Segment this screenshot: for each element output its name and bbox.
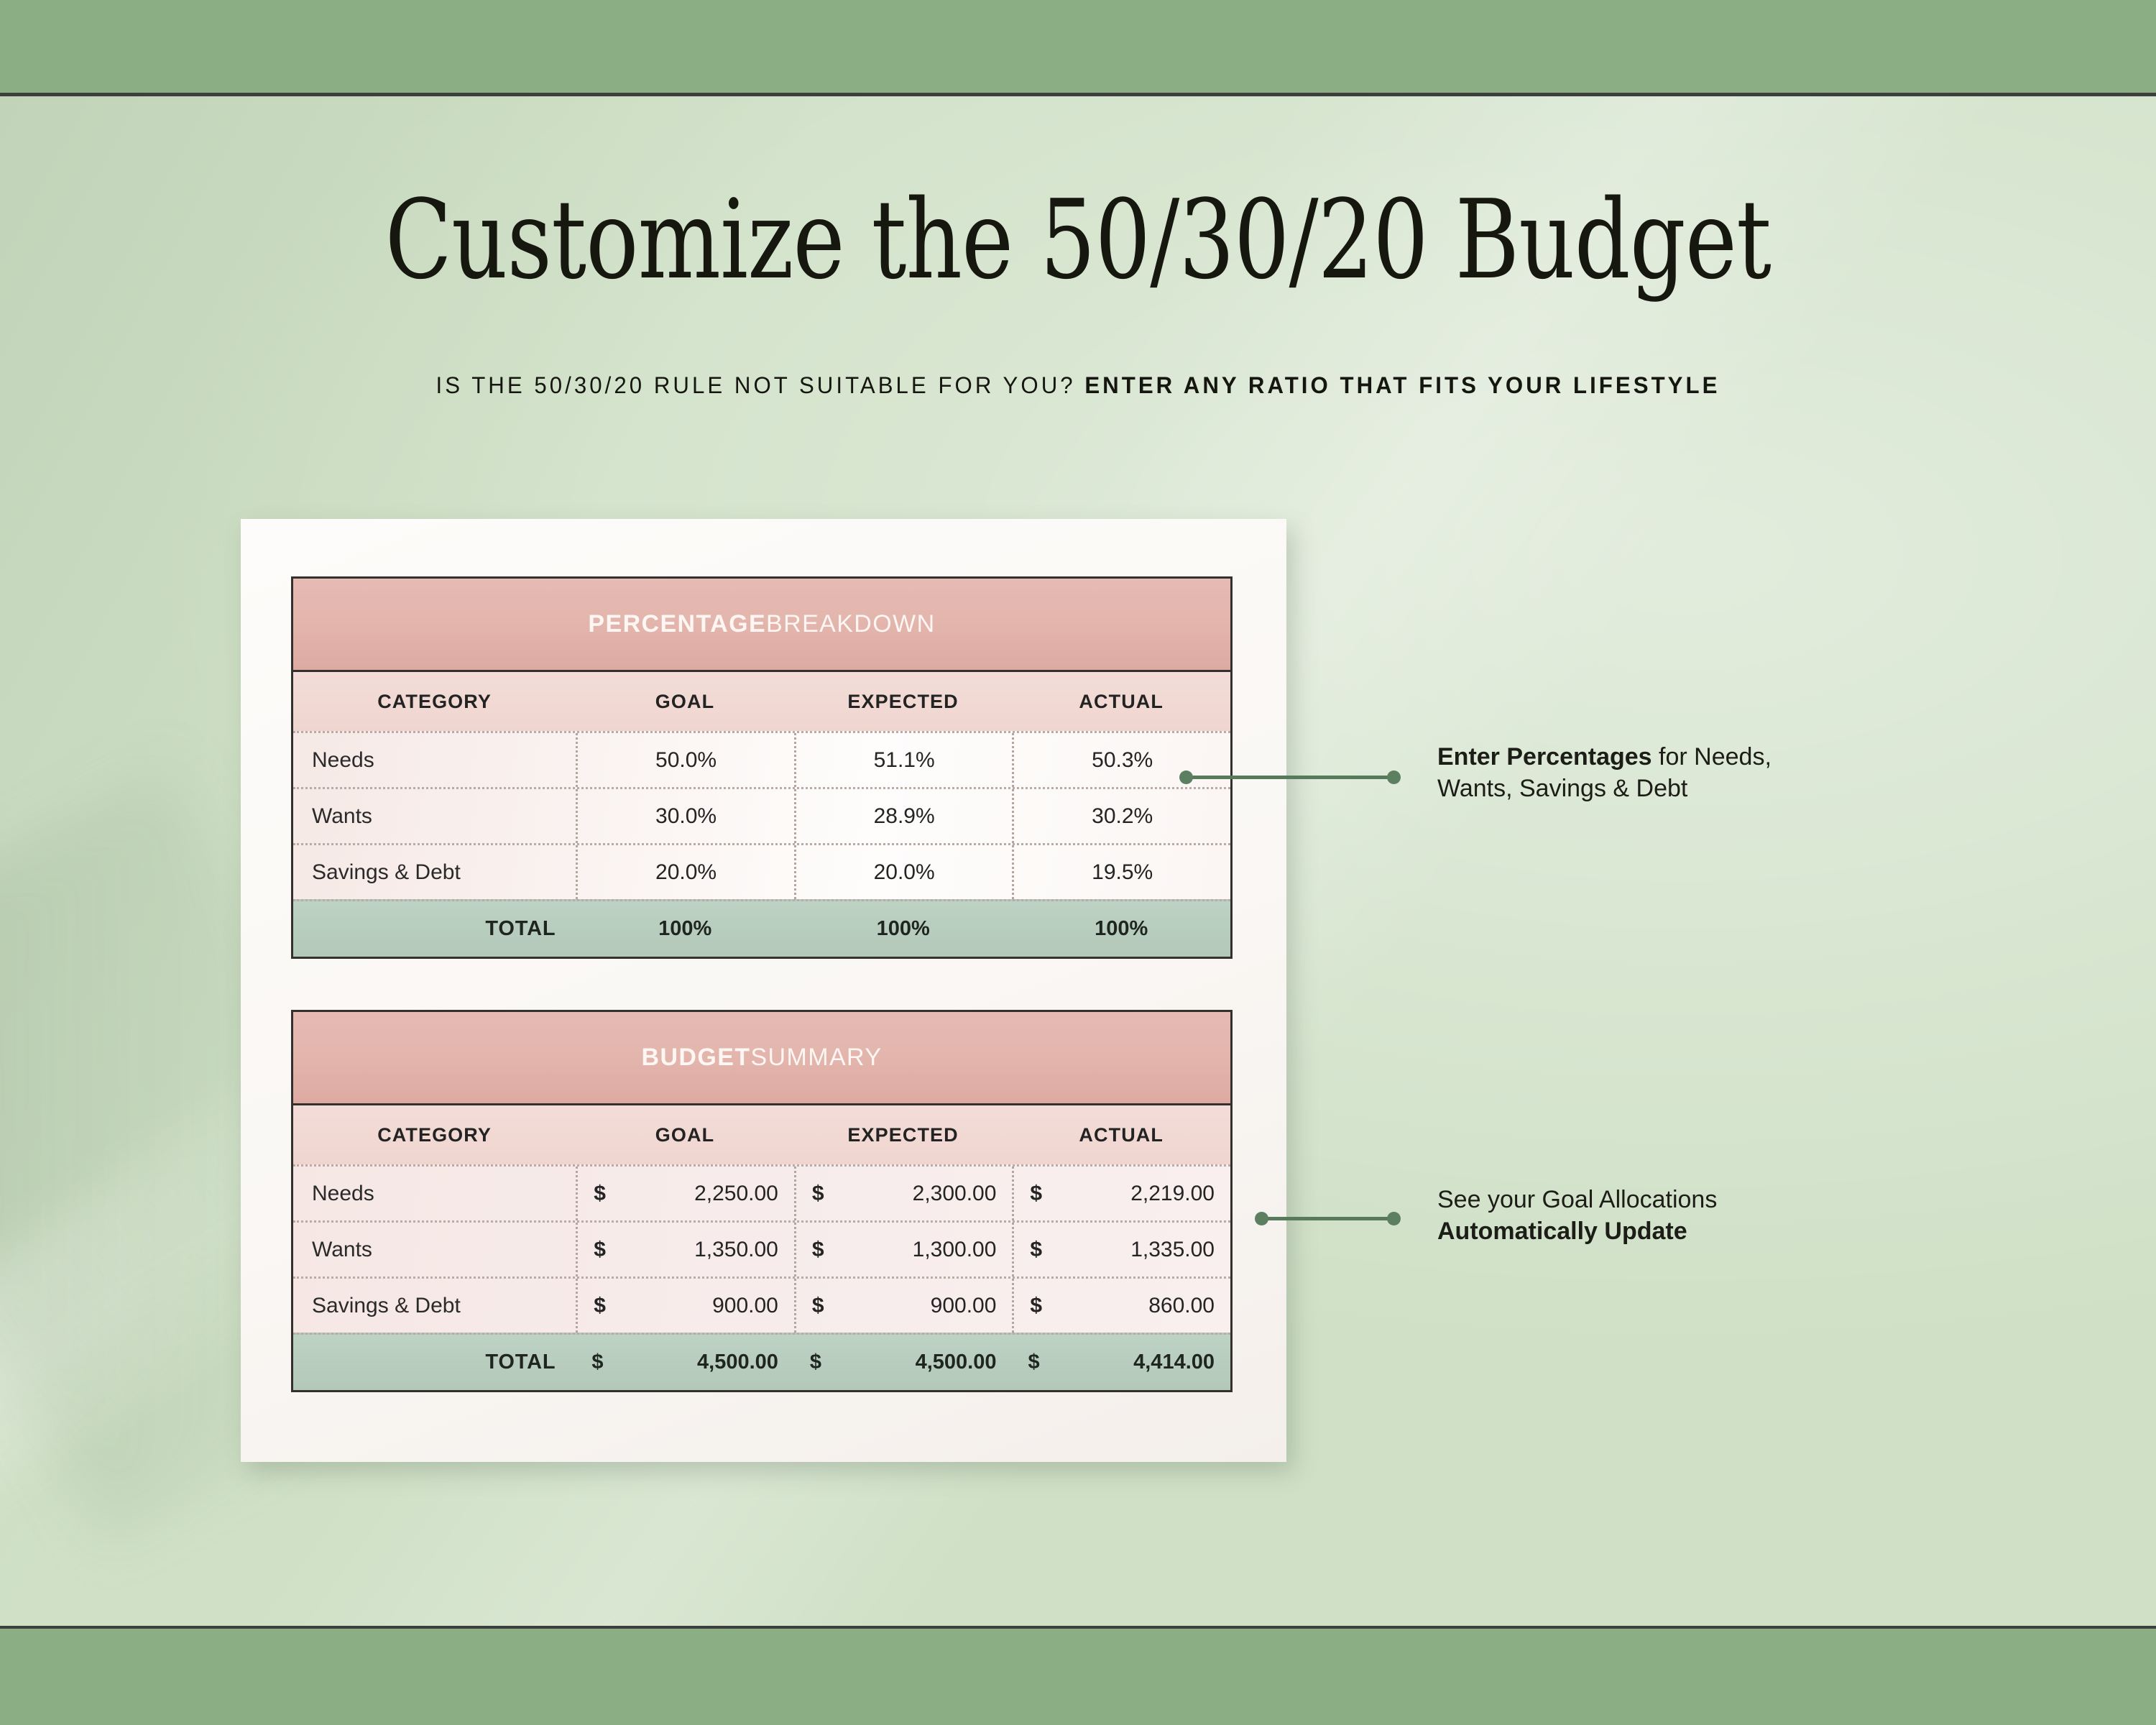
cell-category: Wants: [293, 1223, 576, 1276]
cell-expected[interactable]: 20.0%: [794, 845, 1013, 899]
currency-symbol: $: [1028, 1351, 1039, 1374]
column-header-expected: EXPECTED: [794, 1105, 1013, 1164]
cell-expected[interactable]: $2,300.00: [794, 1167, 1013, 1220]
connector-rule: [1258, 1217, 1398, 1220]
title-light-part: SUMMARY: [750, 1044, 882, 1072]
cell-actual[interactable]: 19.5%: [1012, 845, 1230, 899]
table-row[interactable]: Savings & Debt $900.00 $900.00 $860.00: [293, 1276, 1230, 1333]
page-title: Customize the 50/30/20 Budget: [216, 185, 1940, 295]
connector-dot-start: [1179, 770, 1193, 784]
amount: 4,414.00: [1040, 1351, 1215, 1374]
total-label: TOTAL: [293, 901, 576, 957]
spreadsheet-card: PERCENTAGE BREAKDOWN CATEGORY GOAL EXPEC…: [241, 519, 1286, 1462]
callout-bold-text: Automatically Update: [1437, 1218, 1687, 1245]
page-stage: Customize the 50/30/20 Budget IS THE 50/…: [0, 0, 2156, 1725]
cell-category: Needs: [293, 1167, 576, 1220]
subtitle-emphasis: ENTER ANY RATIO THAT FITS YOUR LIFESTYLE: [1084, 372, 1720, 398]
total-actual: $4,414.00: [1012, 1335, 1230, 1390]
amount: 900.00: [606, 1294, 778, 1318]
column-header-category: CATEGORY: [293, 1105, 576, 1164]
table-row[interactable]: Needs $2,250.00 $2,300.00 $2,219.00: [293, 1164, 1230, 1220]
amount: 2,250.00: [606, 1182, 778, 1206]
amount: 4,500.00: [604, 1351, 778, 1374]
column-header-goal: GOAL: [576, 672, 794, 731]
callout-bold-text: Enter Percentages: [1437, 743, 1652, 770]
cell-goal[interactable]: 30.0%: [576, 789, 794, 843]
currency-symbol: $: [812, 1294, 824, 1318]
total-goal: $4,500.00: [576, 1335, 794, 1390]
amount: 1,350.00: [606, 1238, 778, 1262]
amount: 2,300.00: [824, 1182, 997, 1206]
amount: 900.00: [824, 1294, 997, 1318]
column-header-actual: ACTUAL: [1012, 1105, 1230, 1164]
amount: 1,335.00: [1042, 1238, 1215, 1262]
cell-expected[interactable]: 28.9%: [794, 789, 1013, 843]
currency-symbol: $: [594, 1238, 606, 1262]
cell-goal[interactable]: $2,250.00: [576, 1167, 794, 1220]
connector-rule: [1182, 776, 1398, 779]
callout-text: Enter Percentages for Needs, Wants, Savi…: [1437, 742, 1984, 804]
callout-text: See your Goal Allocations Automatically …: [1437, 1184, 1984, 1247]
cell-goal[interactable]: $1,350.00: [576, 1223, 794, 1276]
cell-actual[interactable]: 30.2%: [1012, 789, 1230, 843]
connector-dot-end: [1387, 1212, 1401, 1225]
column-header-category: CATEGORY: [293, 672, 576, 731]
connector-dot-start: [1255, 1212, 1268, 1225]
title-bold-part: PERCENTAGE: [588, 610, 766, 638]
subtitle-question: IS THE 50/30/20 RULE NOT SUITABLE FOR YO…: [436, 372, 1085, 398]
cell-category: Wants: [293, 789, 576, 843]
title-light-part: BREAKDOWN: [766, 610, 936, 638]
total-goal: 100%: [576, 901, 794, 957]
currency-symbol: $: [594, 1294, 606, 1318]
cell-category: Savings & Debt: [293, 1279, 576, 1333]
cell-goal[interactable]: 50.0%: [576, 733, 794, 787]
currency-symbol: $: [812, 1182, 824, 1206]
currency-symbol: $: [591, 1351, 603, 1374]
total-expected: $4,500.00: [794, 1335, 1013, 1390]
currency-symbol: $: [1030, 1238, 1042, 1262]
column-header-goal: GOAL: [576, 1105, 794, 1164]
total-expected: 100%: [794, 901, 1013, 957]
table-row[interactable]: Needs 50.0% 51.1% 50.3%: [293, 731, 1230, 787]
table-row[interactable]: Wants $1,350.00 $1,300.00 $1,335.00: [293, 1220, 1230, 1276]
currency-symbol: $: [1030, 1182, 1042, 1206]
connector-dot-end: [1387, 770, 1401, 784]
cell-actual[interactable]: $1,335.00: [1012, 1223, 1230, 1276]
percentage-breakdown-title: PERCENTAGE BREAKDOWN: [293, 579, 1230, 672]
currency-symbol: $: [594, 1182, 606, 1206]
cell-category: Savings & Debt: [293, 845, 576, 899]
budget-summary-title: BUDGET SUMMARY: [293, 1012, 1230, 1105]
table-total-row: TOTAL 100% 100% 100%: [293, 899, 1230, 957]
title-bold-part: BUDGET: [642, 1044, 751, 1072]
cell-expected[interactable]: $900.00: [794, 1279, 1013, 1333]
table-column-headers: CATEGORY GOAL EXPECTED ACTUAL: [293, 672, 1230, 731]
bottom-green-band: [0, 1629, 2156, 1725]
currency-symbol: $: [1030, 1294, 1042, 1318]
column-header-expected: EXPECTED: [794, 672, 1013, 731]
amount: 1,300.00: [824, 1238, 997, 1262]
cell-goal[interactable]: $900.00: [576, 1279, 794, 1333]
cell-actual[interactable]: $2,219.00: [1012, 1167, 1230, 1220]
cell-actual[interactable]: $860.00: [1012, 1279, 1230, 1333]
table-total-row: TOTAL $4,500.00 $4,500.00 $4,414.00: [293, 1333, 1230, 1390]
table-row[interactable]: Savings & Debt 20.0% 20.0% 19.5%: [293, 843, 1230, 899]
callout-regular-text: See your Goal Allocations: [1437, 1186, 1717, 1213]
page-subtitle: IS THE 50/30/20 RULE NOT SUITABLE FOR YO…: [43, 372, 2113, 399]
cell-expected[interactable]: 51.1%: [794, 733, 1013, 787]
cell-category: Needs: [293, 733, 576, 787]
top-green-band: [0, 0, 2156, 96]
currency-symbol: $: [810, 1351, 821, 1374]
amount: 2,219.00: [1042, 1182, 1215, 1206]
cell-goal[interactable]: 20.0%: [576, 845, 794, 899]
currency-symbol: $: [812, 1238, 824, 1262]
cell-expected[interactable]: $1,300.00: [794, 1223, 1013, 1276]
total-label: TOTAL: [293, 1335, 576, 1390]
column-header-actual: ACTUAL: [1012, 672, 1230, 731]
table-column-headers: CATEGORY GOAL EXPECTED ACTUAL: [293, 1105, 1230, 1164]
table-row[interactable]: Wants 30.0% 28.9% 30.2%: [293, 787, 1230, 843]
total-actual: 100%: [1012, 901, 1230, 957]
amount: 860.00: [1042, 1294, 1215, 1318]
amount: 4,500.00: [821, 1351, 996, 1374]
budget-summary-table: BUDGET SUMMARY CATEGORY GOAL EXPECTED AC…: [291, 1010, 1233, 1392]
percentage-breakdown-table: PERCENTAGE BREAKDOWN CATEGORY GOAL EXPEC…: [291, 576, 1233, 959]
